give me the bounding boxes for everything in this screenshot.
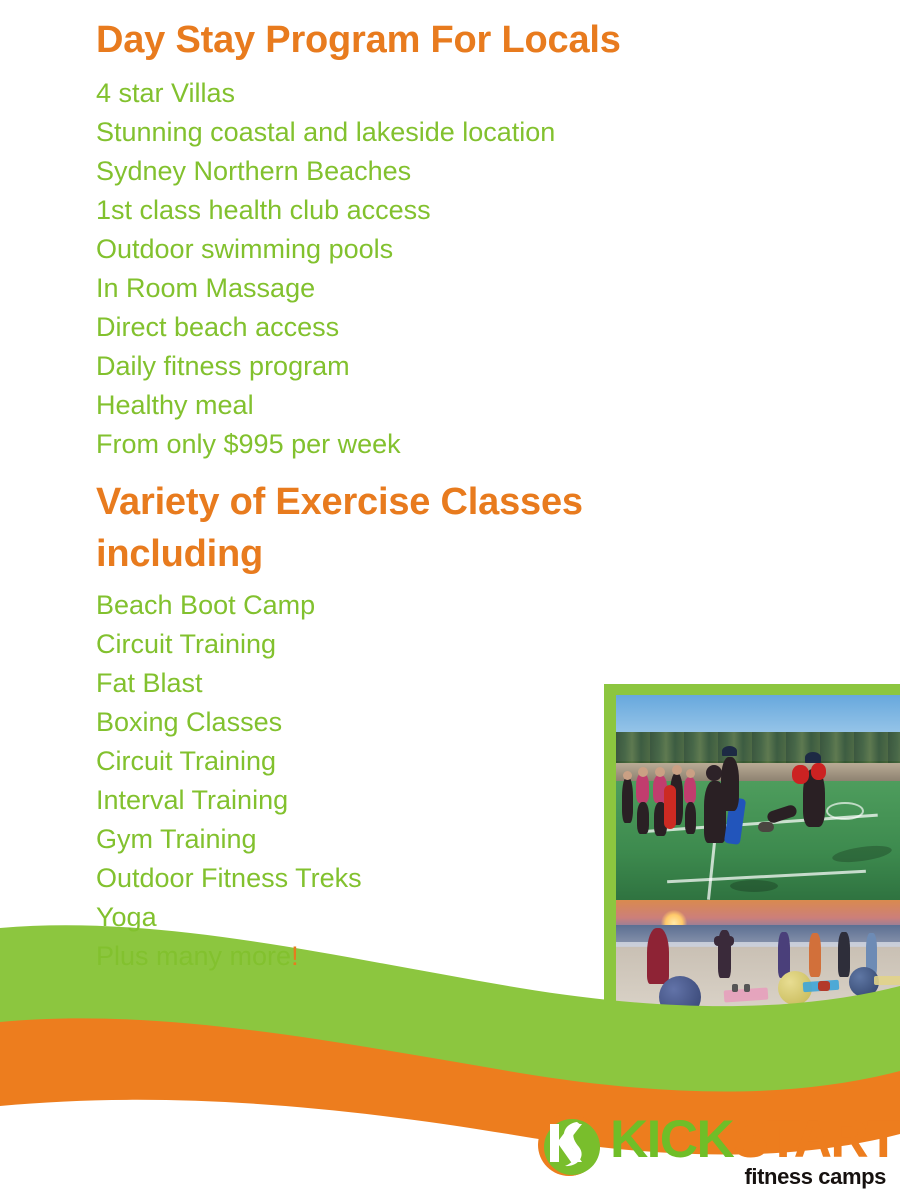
kickstart-circle-mark [536, 1112, 602, 1178]
poster-content: Day Stay Program For Locals 4 star Villa… [96, 14, 816, 976]
list-item: 4 star Villas [96, 74, 816, 113]
list-item: Boxing Classes [96, 703, 816, 742]
list-item: From only $995 per week [96, 425, 816, 464]
exclamation-mark: ! [291, 941, 299, 971]
logo-start-text: START [733, 1110, 898, 1169]
list-item: Healthy meal [96, 386, 816, 425]
logo-tagline: fitness camps [744, 1164, 886, 1190]
list-item: Gym Training [96, 820, 816, 859]
list-item: Beach Boot Camp [96, 586, 816, 625]
list-item: Direct beach access [96, 308, 816, 347]
list-item: Outdoor swimming pools [96, 230, 816, 269]
logo-kick-text: KICK [610, 1110, 733, 1169]
list-item: Circuit Training [96, 742, 816, 781]
list-item: Fat Blast [96, 664, 816, 703]
day-stay-feature-list: 4 star Villas Stunning coastal and lakes… [96, 74, 816, 464]
list-item-label: Plus many more [96, 941, 291, 971]
list-item: Stunning coastal and lakeside location [96, 113, 816, 152]
list-item: Outdoor Fitness Treks [96, 859, 816, 898]
page-title: Day Stay Program For Locals [96, 14, 816, 66]
list-item-last: Plus many more! [96, 937, 816, 976]
list-item: 1st class health club access [96, 191, 816, 230]
exercise-class-list: Beach Boot Camp Circuit Training Fat Bla… [96, 586, 816, 976]
list-item: Interval Training [96, 781, 816, 820]
list-item: Yoga [96, 898, 816, 937]
list-item: Circuit Training [96, 625, 816, 664]
list-item: Sydney Northern Beaches [96, 152, 816, 191]
logo-wordmark: KICKSTART [610, 1112, 898, 1168]
kickstart-logo: KICKSTART fitness camps [536, 1110, 888, 1192]
poster: Day Stay Program For Locals 4 star Villa… [0, 0, 900, 1200]
section-title-exercise-classes: Variety of Exercise Classes including [96, 476, 756, 580]
list-item: In Room Massage [96, 269, 816, 308]
list-item: Daily fitness program [96, 347, 816, 386]
